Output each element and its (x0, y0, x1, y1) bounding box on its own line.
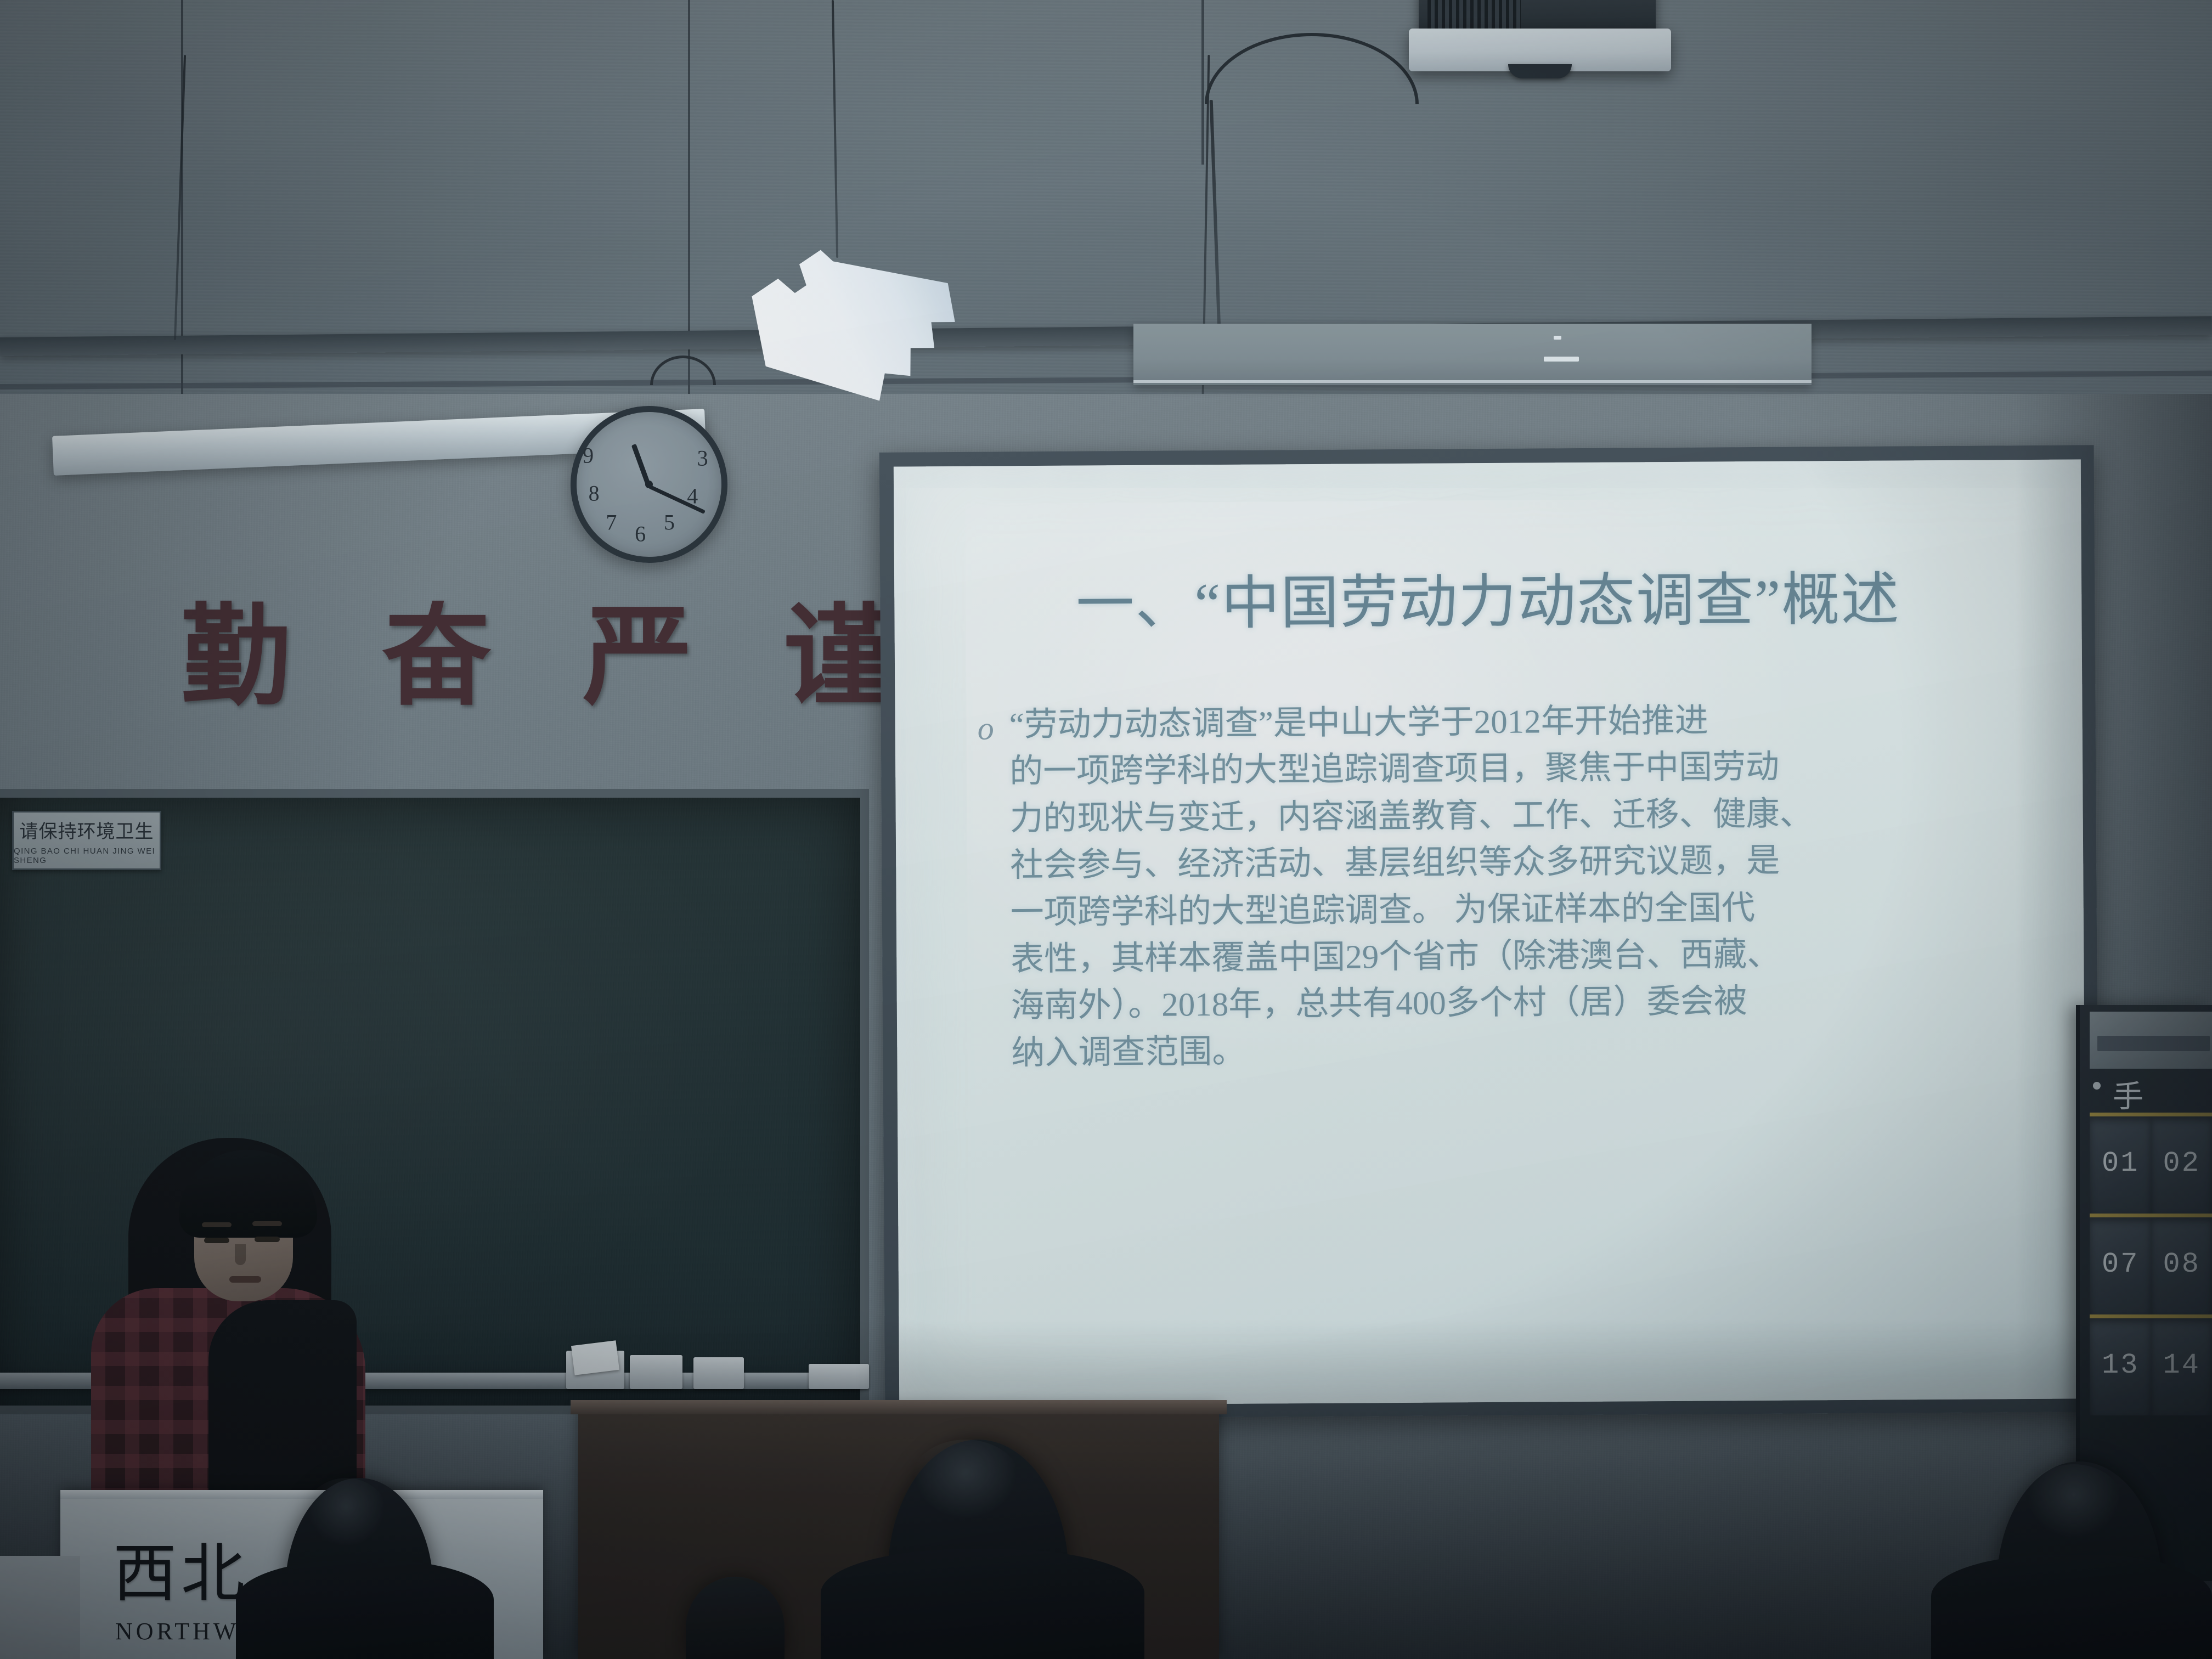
clock-numeral: 7 (606, 509, 617, 535)
ceiling-texture (0, 0, 2212, 417)
hygiene-notice-sign: 请保持环境卫生 QING BAO CHI HUAN JING WEI SHENG (12, 811, 161, 870)
wall-motto: 勤 奋 严 谨 (181, 603, 893, 713)
motto-char-1: 勤 (181, 603, 291, 713)
clock-center-pin (645, 481, 653, 488)
bullet-marker-icon: o (977, 702, 1009, 751)
slide-line: 一项跨学科的大型追踪调查。 为保证样本的全国代 (1011, 883, 2031, 936)
motto-char-2: 奋 (382, 603, 492, 713)
ceiling (0, 0, 2212, 417)
university-logo-en: NORTHW (115, 1617, 239, 1645)
slide-line: 表性，其样本覆盖中国29个省市（除港澳台、西藏、 (1011, 930, 2031, 983)
projection-screen-frame: 一、“中国劳动力动态调查”概述 o “劳动力动态调查”是中山大学于2012年开始… (879, 445, 2100, 1419)
hygiene-notice-text-cn: 请保持环境卫生 (20, 816, 154, 843)
slide-line: 社会参与、经济活动、基层组织等众多研究议题，是 (1010, 836, 2030, 889)
clock-numeral: 5 (664, 509, 675, 535)
motto-char-4: 谨 (783, 603, 893, 713)
clock-numeral: 8 (589, 480, 600, 506)
slide-line: 海南外）。2018年，总共有400多个村（居）委会被 (1011, 977, 2032, 1030)
ceiling-seam (181, 0, 183, 417)
clock-numeral: 9 (583, 443, 594, 469)
slide-line: 纳入调查范围。 (1011, 1024, 2032, 1077)
teacher-eye-right (255, 1237, 280, 1242)
motto-char-3: 严 (583, 603, 692, 713)
projector-lens-icon (1508, 64, 1572, 78)
projection-screen-surface: 一、“中国劳动力动态调查”概述 o “劳动力动态调查”是中山大学于2012年开始… (894, 459, 2086, 1406)
desk-side-panel (0, 1556, 80, 1659)
duct-reflection (1544, 357, 1579, 362)
slide-body: o “劳动力动态调查”是中山大学于2012年开始推进 的一项跨学科的大型追踪调查… (977, 696, 2032, 1077)
classroom-scene: 3 4 5 6 7 8 9 勤 奋 严 谨 请保持环境卫生 QING BAO C… (0, 0, 2212, 1659)
wall-clock: 3 4 5 6 7 8 9 (571, 406, 727, 563)
slide-line: “劳动力动态调查”是中山大学于2012年开始推进 (1009, 696, 2029, 749)
teacher-eye-left (204, 1238, 229, 1243)
slide-bullet: o “劳动力动态调查”是中山大学于2012年开始推进 的一项跨学科的大型追踪调查… (977, 696, 2032, 1077)
student-shoulders (1931, 1555, 2212, 1659)
clock-numeral: 3 (697, 445, 708, 471)
teacher-nose (235, 1244, 246, 1265)
desk-edge (60, 1490, 543, 1499)
student-hair-highlight (911, 1440, 1020, 1522)
wall-mounted-duct (1133, 324, 1812, 385)
teacher-eyebrow-right (252, 1221, 282, 1226)
hygiene-notice-text-pinyin: QING BAO CHI HUAN JING WEI SHENG (14, 847, 160, 865)
student-shoulders (821, 1549, 1144, 1659)
teacher-eyebrow-left (202, 1222, 232, 1227)
podium-top-surface (571, 1400, 1227, 1414)
student-shoulders (236, 1560, 494, 1659)
duct-reflection (1554, 336, 1561, 340)
slide-title: 一、“中国劳动力动态调查”概述 (894, 567, 2082, 638)
ceiling-seam (688, 0, 690, 417)
student-hair-highlight (305, 1478, 387, 1549)
teacher-mouth (229, 1276, 261, 1283)
clock-numeral: 6 (635, 521, 646, 546)
ceiling-projector (1409, 29, 1671, 71)
ceiling-seam (1201, 0, 1204, 165)
slide-line: 力的现状与变迁，内容涵盖教育、工作、迁移、健康、 (1009, 789, 2030, 843)
slide-bullet-text: “劳动力动态调查”是中山大学于2012年开始推进 的一项跨学科的大型追踪调查项目… (1009, 696, 2032, 1076)
university-logo-cn: 西北 (113, 1543, 249, 1606)
student-hair-highlight (2024, 1464, 2123, 1541)
slide-line: 的一项跨学科的大型追踪调查项目，聚焦于中国劳动 (1009, 742, 2030, 795)
